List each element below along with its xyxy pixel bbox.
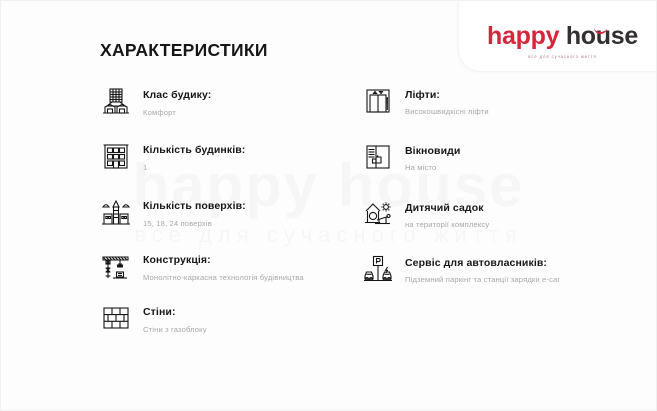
feature-value: Комфорт	[143, 107, 211, 118]
feature-value: на території комплексу	[405, 219, 489, 230]
features-column-left: Клас будику: Комфорт	[100, 84, 307, 355]
playground-kindergarten-icon	[362, 198, 394, 230]
brand-word-happy: happy	[487, 22, 559, 50]
feature-title: Клас будику:	[143, 89, 211, 101]
feature-title: Кількість поверхів:	[143, 200, 246, 212]
feature-title: Конструкція:	[143, 254, 211, 266]
brick-wall-icon	[100, 302, 132, 334]
feature-window-views: Вікновиди На місто	[362, 140, 569, 173]
feature-title: Дитячий садок	[405, 202, 484, 214]
feature-value: На місто	[405, 162, 460, 173]
features-column-right: Ліфти: Високошвидкісні ліфти	[362, 84, 569, 355]
feature-building-class: Клас будику: Комфорт	[100, 84, 307, 118]
feature-title: Сервіс для автовласників:	[405, 257, 547, 269]
page-title: ХАРАКТЕРИСТИКИ	[100, 40, 268, 61]
characteristics-page: happy house все для сучасного життя happ…	[0, 0, 657, 411]
feature-title: Вікновиди	[405, 145, 460, 157]
window-view-icon	[362, 141, 394, 173]
apartment-building-icon	[100, 85, 132, 117]
feature-title: Кількість будинків:	[143, 144, 245, 156]
brand-wordmark: happy house	[487, 24, 638, 49]
features-columns: Клас будику: Комфорт	[100, 84, 570, 355]
feature-value: 1	[143, 162, 245, 173]
feature-building-count: Кількість будинків: 1	[100, 139, 307, 173]
feature-elevators: Ліфти: Високошвидкісні ліфти	[362, 84, 569, 117]
feature-title: Ліфти:	[405, 89, 440, 101]
feature-car-owner-services: Сервіс для автовласників: Підземний парк…	[362, 252, 569, 285]
brand-word-house: house	[566, 22, 638, 50]
brand-tagline: все для сучасного життя	[528, 54, 596, 59]
elevator-icon	[362, 85, 394, 117]
brand-logo-card[interactable]: happy house все для сучасного життя	[459, 0, 657, 71]
parking-ev-charging-icon	[362, 253, 394, 285]
construction-crane-icon	[100, 250, 132, 282]
feature-title: Стіни:	[143, 306, 176, 318]
feature-value: Високошвидкісні ліфти	[405, 106, 489, 117]
feature-walls: Стіни: Стіни з газоблоку	[100, 301, 307, 335]
feature-value: Монолітно-каркасна технологія будівництв…	[143, 272, 304, 283]
feature-kindergarten: Дитячий садок на території комплексу	[362, 197, 569, 230]
feature-value: Стіни з газоблоку	[143, 324, 207, 335]
feature-value: 15, 18, 24 поверхів	[143, 218, 246, 229]
multi-building-icon	[100, 140, 132, 172]
skyline-tower-icon	[100, 196, 132, 228]
feature-floor-count: Кількість поверхів: 15, 18, 24 поверхів	[100, 195, 307, 229]
feature-construction: Конструкція: Монолітно-каркасна технолог…	[100, 249, 307, 283]
feature-value: Підземний паркінг та станції зарядки е-c…	[405, 274, 560, 285]
